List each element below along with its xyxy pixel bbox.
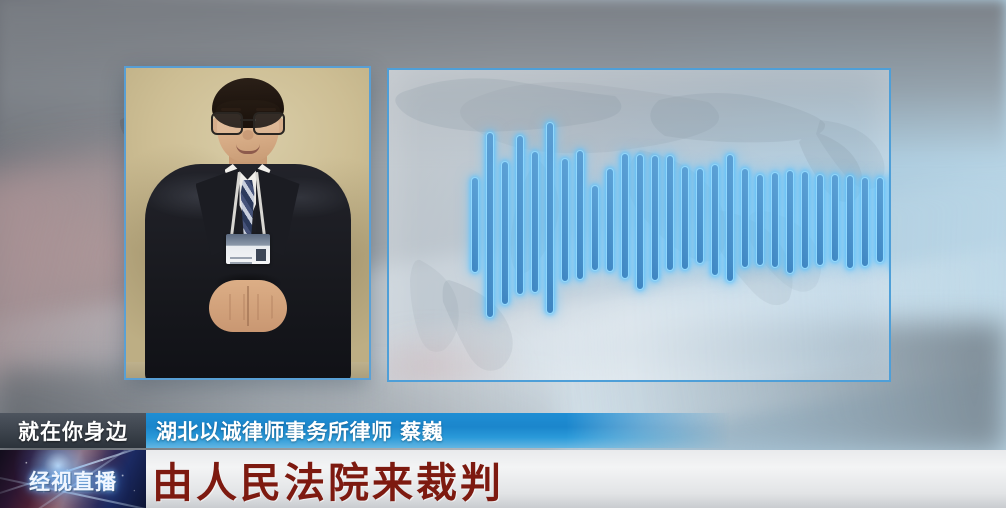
- broadcast-screen: 就在你身边 湖北以诚律师事务所律师 蔡巍 由人民法院来裁判 经视直播: [0, 0, 1006, 508]
- waveform-bar: [786, 170, 794, 274]
- channel-logo: 经视直播: [0, 450, 146, 508]
- waveform-bar: [831, 174, 839, 262]
- guest-credit-label: 湖北以诚律师事务所律师 蔡巍: [156, 416, 443, 446]
- waveform-bar: [711, 164, 719, 276]
- waveform-bar: [801, 171, 809, 269]
- waveform-bar: [666, 155, 674, 271]
- waveform-bar: [591, 185, 599, 271]
- waveform-bar: [486, 132, 494, 318]
- waveform-bar: [576, 150, 584, 280]
- waveform-bar: [636, 154, 644, 290]
- photo-id-badge: [226, 234, 270, 264]
- photo-glasses: [211, 112, 285, 132]
- waveform-bar: [621, 153, 629, 279]
- waveform-bar: [516, 135, 524, 295]
- audio-waveform-panel: [387, 68, 891, 382]
- photo-hand-seam: [247, 286, 249, 326]
- guest-credit-strip: 湖北以诚律师事务所律师 蔡巍: [146, 413, 730, 448]
- waveform-bar: [741, 168, 749, 268]
- waveform-bar: [696, 168, 704, 264]
- waveform-bar: [471, 177, 479, 273]
- waveform-bars: [389, 70, 889, 380]
- waveform-bar: [771, 172, 779, 268]
- waveform-bar: [726, 154, 734, 282]
- waveform-bar: [531, 151, 539, 293]
- photo-eyebrow-left: [221, 108, 241, 111]
- waveform-bar: [681, 166, 689, 270]
- waveform-bar: [606, 168, 614, 272]
- waveform-bar: [816, 174, 824, 266]
- program-slogan-label: 就在你身边: [18, 416, 128, 446]
- program-slogan-strip: 就在你身边: [0, 413, 146, 448]
- waveform-bar: [651, 155, 659, 281]
- guest-photo: [126, 68, 369, 378]
- waveform-bar: [501, 161, 509, 305]
- channel-logo-label: 经视直播: [29, 466, 117, 496]
- waveform-bar: [756, 174, 764, 266]
- photo-eyebrow-right: [256, 108, 276, 111]
- waveform-bar: [546, 122, 554, 314]
- waveform-bar: [861, 177, 869, 267]
- waveform-bar: [876, 177, 884, 263]
- waveform-bar: [561, 158, 569, 282]
- headline-text: 由人民法院来裁判: [152, 450, 504, 508]
- waveform-bar: [846, 175, 854, 269]
